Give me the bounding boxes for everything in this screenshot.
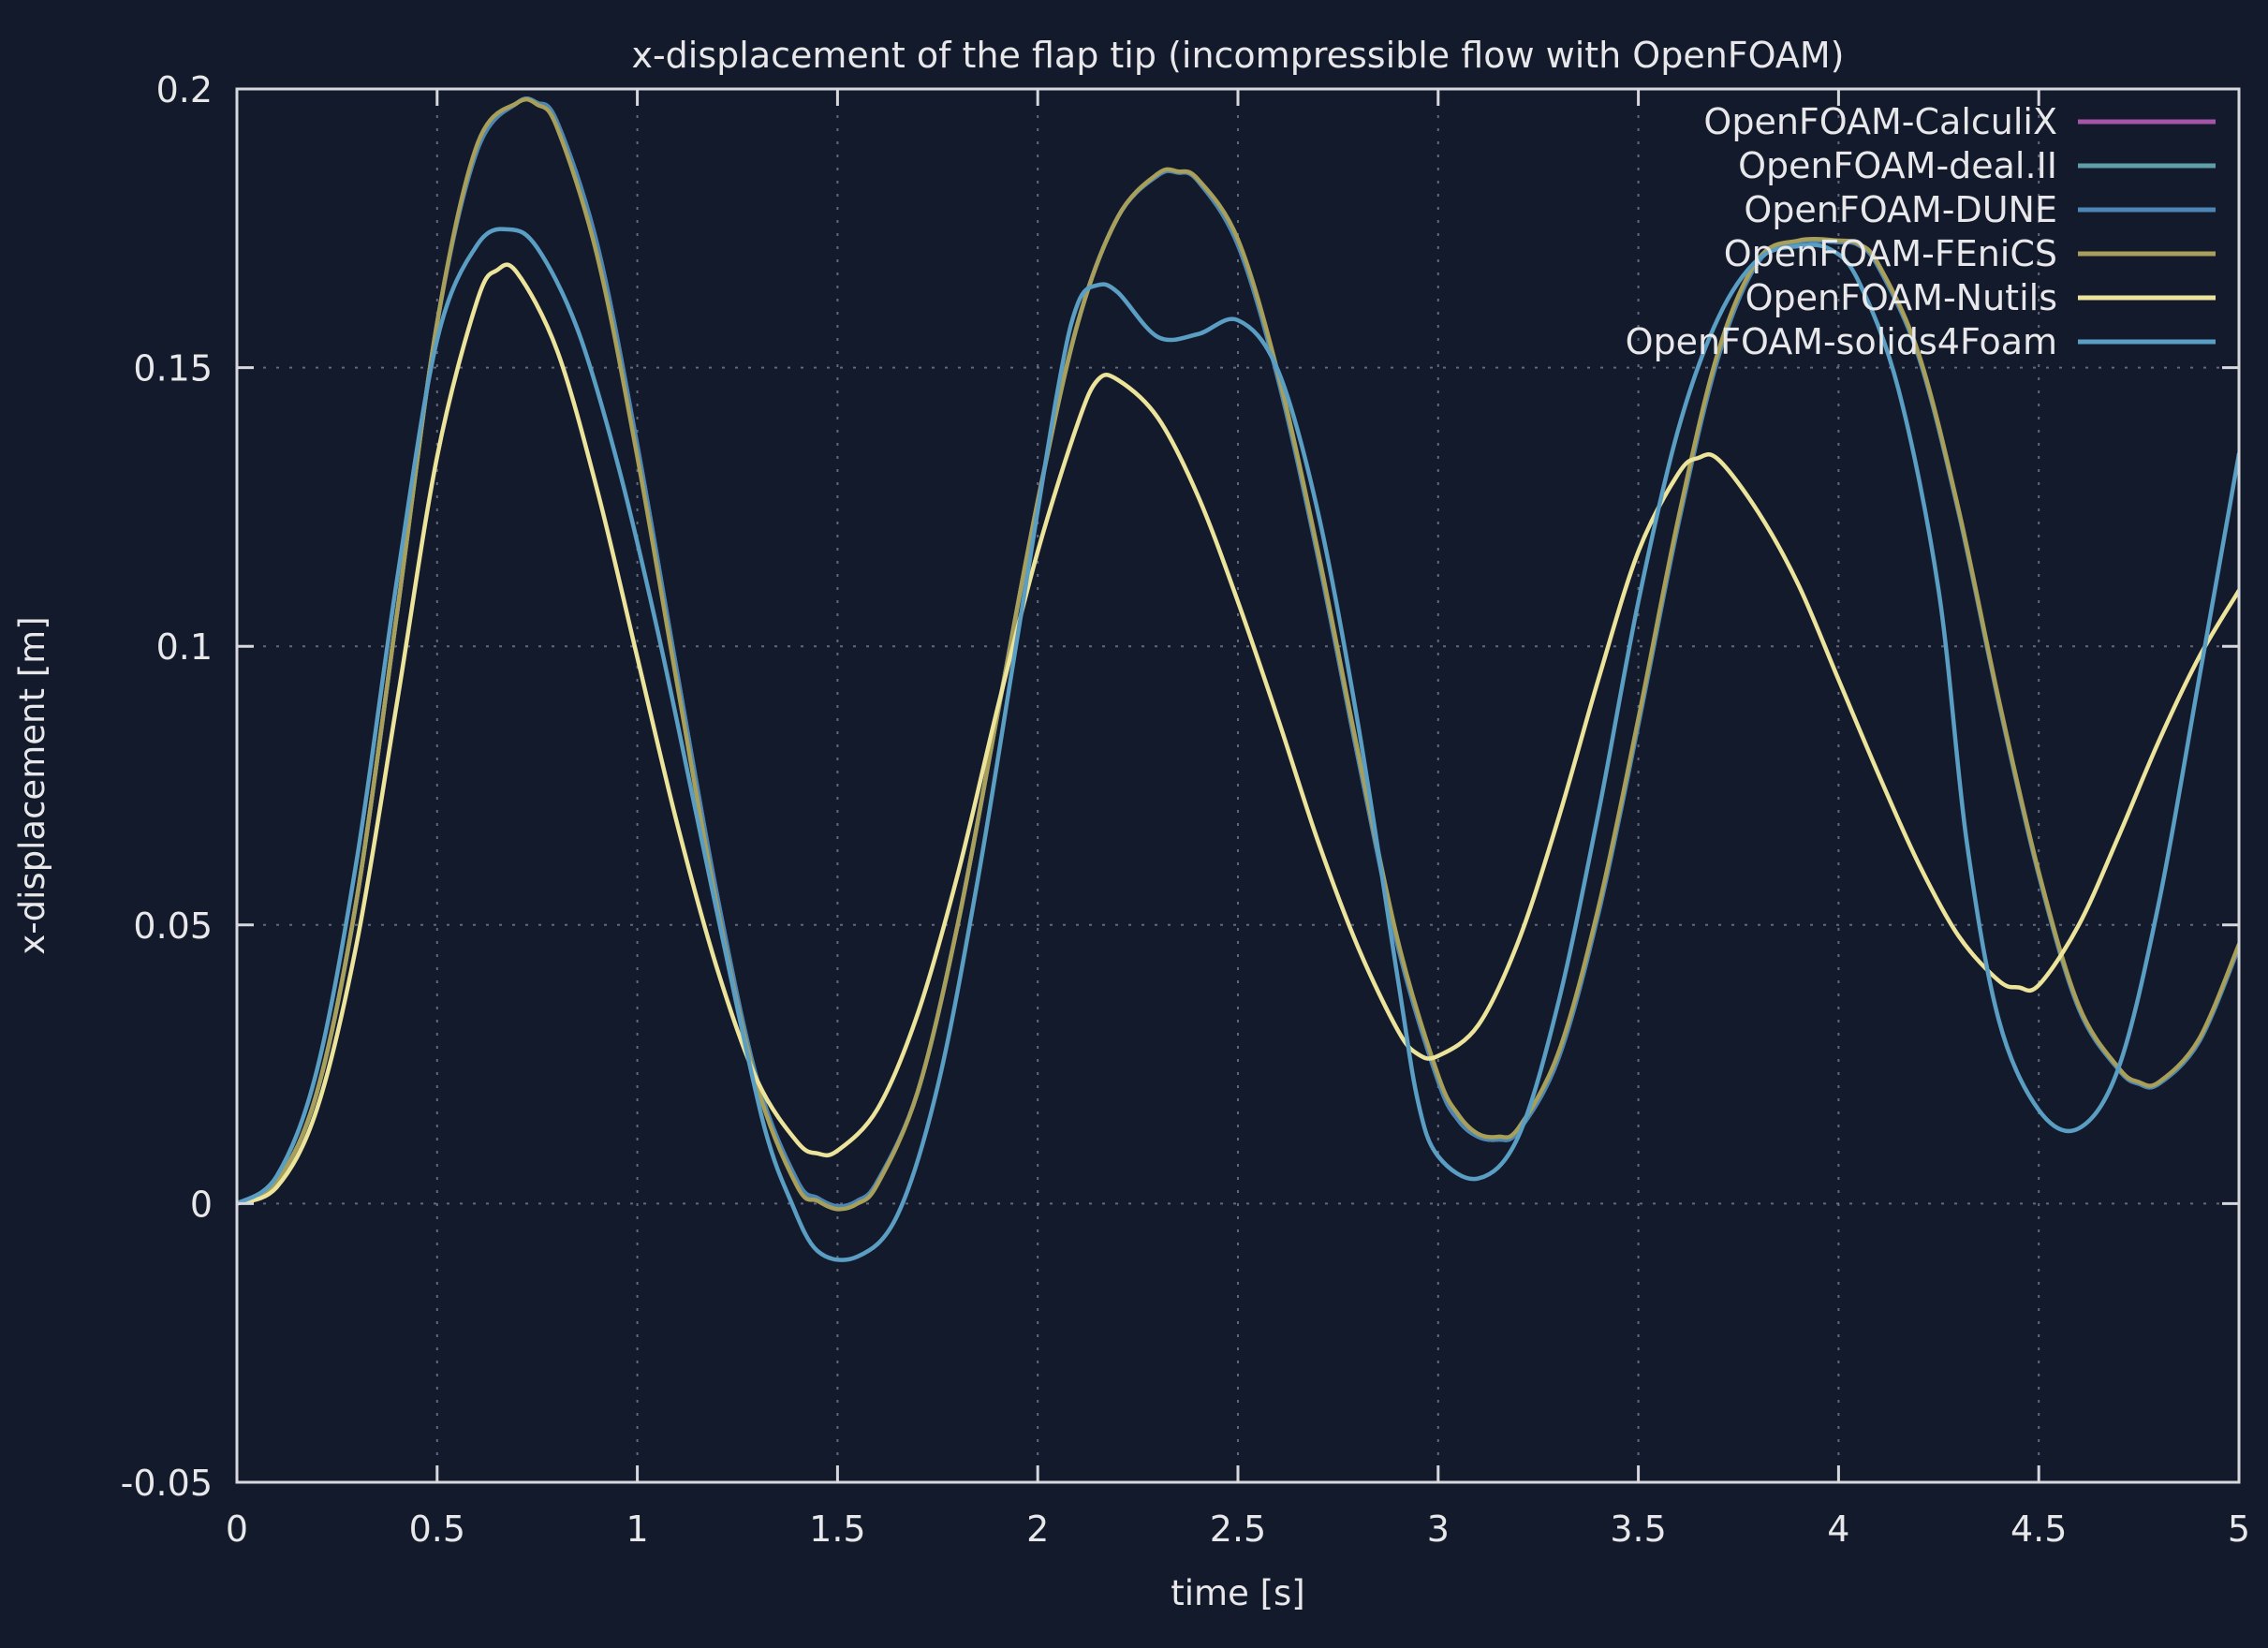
legend-item[interactable]: OpenFOAM-DUNE — [1744, 189, 2216, 230]
legend-item[interactable]: OpenFOAM-FEniCS — [1724, 233, 2216, 274]
x-tick-label: 2 — [1026, 1508, 1049, 1550]
legend-item[interactable]: OpenFOAM-deal.II — [1738, 145, 2216, 186]
legend-label: OpenFOAM-CalculiX — [1703, 101, 2057, 142]
legend-label: OpenFOAM-solids4Foam — [1626, 321, 2057, 362]
y-tick-label: 0.05 — [133, 905, 213, 947]
legend-item[interactable]: OpenFOAM-Nutils — [1745, 277, 2216, 318]
x-tick-label: 3.5 — [1610, 1508, 1666, 1550]
y-tick-label: 0.2 — [156, 69, 213, 110]
chart-title: x-displacement of the flap tip (incompre… — [631, 35, 1844, 76]
x-tick-label: 4.5 — [2010, 1508, 2067, 1550]
chart-figure: x-displacement of the flap tip (incompre… — [0, 0, 2268, 1648]
x-axis-label: time [s] — [1171, 1573, 1305, 1613]
y-tick-label: -0.05 — [121, 1463, 213, 1504]
legend: OpenFOAM-CalculiXOpenFOAM-deal.IIOpenFOA… — [1626, 101, 2216, 362]
x-tick-label: 4 — [1827, 1508, 1849, 1550]
x-tick-label: 0 — [226, 1508, 248, 1550]
legend-label: OpenFOAM-FEniCS — [1724, 233, 2057, 274]
legend-label: OpenFOAM-Nutils — [1745, 277, 2057, 318]
y-tick-label: 0.15 — [133, 348, 213, 390]
line-chart: x-displacement of the flap tip (incompre… — [0, 0, 2268, 1648]
legend-item[interactable]: OpenFOAM-solids4Foam — [1626, 321, 2216, 362]
x-tick-label: 1 — [626, 1508, 649, 1550]
x-tick-label: 2.5 — [1210, 1508, 1266, 1550]
legend-label: OpenFOAM-DUNE — [1744, 189, 2057, 230]
x-tick-label: 1.5 — [809, 1508, 865, 1550]
y-axis-label: x-displacement [m] — [12, 616, 52, 954]
y-tick-label: 0 — [190, 1184, 213, 1225]
y-tick-label: 0.1 — [156, 626, 213, 668]
x-tick-label: 0.5 — [409, 1508, 465, 1550]
legend-label: OpenFOAM-deal.II — [1738, 145, 2057, 186]
x-tick-label: 3 — [1427, 1508, 1450, 1550]
x-tick-label: 5 — [2228, 1508, 2250, 1550]
legend-item[interactable]: OpenFOAM-CalculiX — [1703, 101, 2216, 142]
